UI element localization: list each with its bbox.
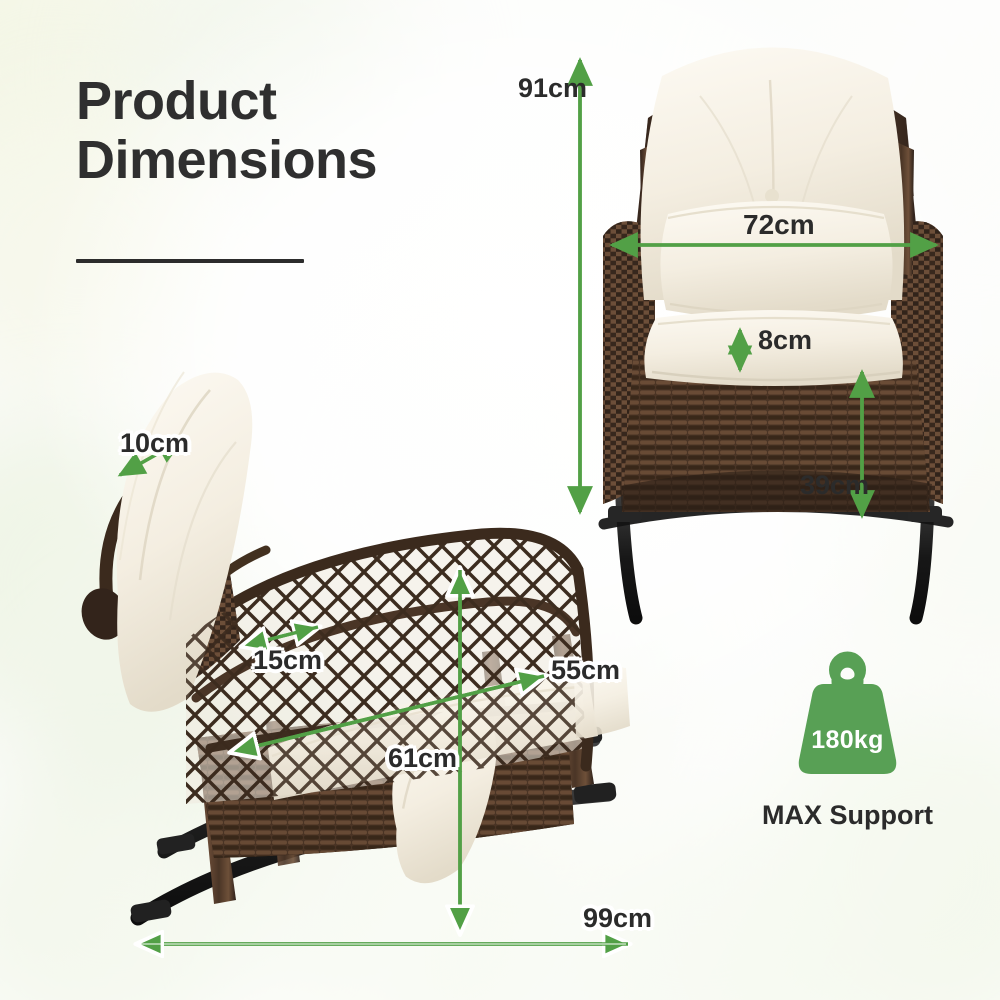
- dimension-label-91cm: 91cm: [518, 73, 587, 104]
- dimension-label-99cm: 99cm: [583, 903, 652, 934]
- max-support-caption: MAX Support: [740, 800, 955, 831]
- dimension-label-15cm: 15cm: [253, 645, 322, 676]
- dimension-label-61cm: 61cm: [388, 743, 457, 774]
- product-dimensions-infographic: Product Dimensions: [0, 0, 1000, 1000]
- weight-icon: [740, 648, 955, 788]
- max-weight-value: 180kg: [740, 726, 955, 755]
- dimension-label-72cm: 72cm: [743, 209, 815, 241]
- dimension-label-8cm: 8cm: [758, 325, 812, 356]
- dimension-label-39cm: 39cm: [800, 470, 869, 501]
- dimension-label-10cm: 10cm: [120, 428, 189, 459]
- dimension-label-55cm: 55cm: [551, 655, 620, 686]
- dimension-arrow-55cm: [232, 676, 544, 752]
- dimension-arrow-15cm: [243, 627, 318, 646]
